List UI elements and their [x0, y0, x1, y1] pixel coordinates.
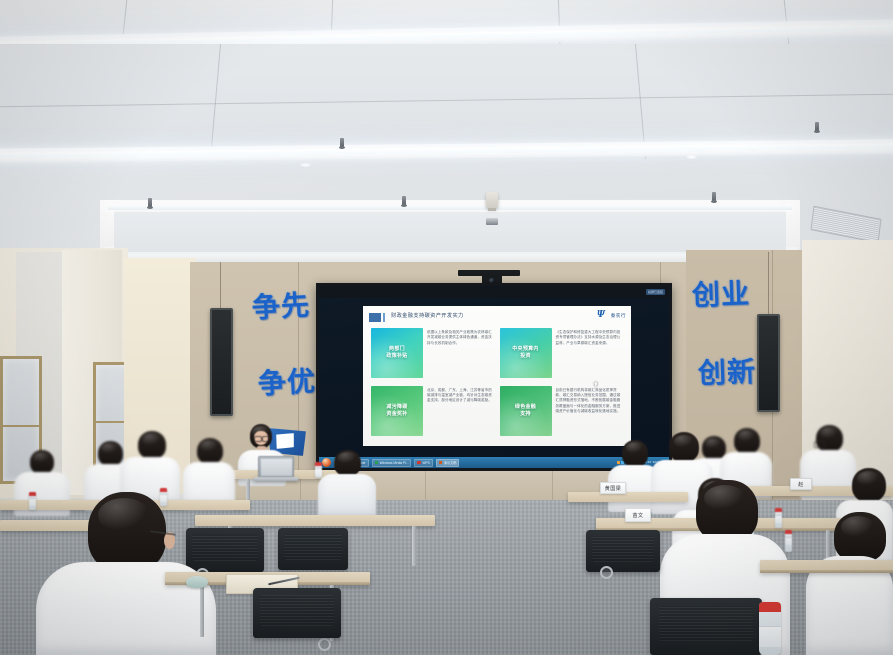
slide-cell-image: 中央预算内 投资 — [500, 328, 552, 378]
slide-cell-body: 依据以上条款及相关产业政策为农林碳汇开发减碳业务提供主体绿色通道，资金扶持与长效… — [427, 328, 495, 381]
ceiling-led-strip-3 — [108, 206, 792, 210]
calligraphy-right-line1: 创业 — [692, 279, 751, 310]
taskbar-button-wps[interactable]: WPS — [414, 459, 432, 467]
sprinkler-head — [340, 138, 344, 147]
powerpoint-slide[interactable]: 财政金融支持碳资产开发实力 Ψ 秦农行 两部门 政策补贴 依据以上条款及相关产业… — [363, 306, 631, 446]
presenter-laptop-lid — [258, 456, 294, 478]
taskbar-button-label: 演示文稿 — [444, 460, 457, 465]
slide-cell: 绿色金融 支持 目前已有银行机构将碳汇商品化质押贷款、碳汇交易纳入授信业务范围，… — [500, 386, 624, 439]
caption-line-2: 投资 — [520, 353, 531, 359]
recessed-downlight — [686, 155, 697, 159]
ceiling-projector — [486, 192, 498, 208]
taskbar-button-presentation[interactable]: 演示文稿 — [436, 459, 460, 467]
foreground-attendee-far-right — [806, 512, 893, 655]
chair — [253, 588, 341, 638]
bottle-label — [29, 498, 36, 506]
calligraphy-right-line2: 创新 — [698, 357, 757, 388]
caption-line-1: 两部门 — [389, 346, 405, 352]
bottle-label — [759, 626, 781, 647]
name-placard: 赵 — [790, 478, 812, 490]
slide-cell-image: 绿色金融 支持 — [500, 386, 552, 436]
slide-cell-body: 北京、成都、广东、上海、江苏等省市的碳减排与温室减产业链，均针对生态碳资金支持，… — [427, 386, 495, 439]
eyeglasses — [814, 441, 825, 448]
chair — [278, 528, 348, 570]
wall-speaker-left — [210, 308, 233, 416]
presenter-laptop-base — [254, 477, 298, 481]
slide-title: 财政金融支持碳资产开发实力 — [391, 312, 464, 319]
sprinkler-head — [712, 192, 716, 201]
slide-title-accent-line — [383, 313, 385, 322]
slide-cell: 减污降碳 资金奖补 北京、成都、广东、上海、江苏等省市的碳减排与温室减产业链，均… — [371, 386, 495, 439]
projector-lens — [486, 218, 498, 225]
taskbar-button-label: WPS — [422, 461, 429, 465]
air-conditioning-vent — [810, 206, 881, 244]
presenter-glasses — [262, 436, 270, 442]
taskbar-button-media-player[interactable]: Windows Media Pl... — [372, 459, 412, 467]
desk-row-mid-left-2 — [195, 515, 435, 526]
meeting-room-photo: 争先 争优 创业 创新 投屏已连接 财政金融支持碳资产开发实力 Ψ 秦农行 — [0, 0, 893, 655]
chair-caster — [318, 638, 331, 651]
bottle-cap — [759, 602, 781, 612]
slide-cell-image: 两部门 政策补贴 — [371, 328, 423, 378]
wall-speaker-right — [757, 314, 780, 412]
laptop-screen — [261, 459, 292, 476]
recessed-downlight — [300, 163, 311, 167]
caption-line-2: 支持 — [520, 411, 531, 417]
caption-line-1: 绿色金融 — [515, 404, 536, 410]
sprinkler-head — [402, 196, 406, 205]
taskbar-button-label: Windows Media Pl... — [380, 461, 409, 465]
presentation-icon — [439, 461, 443, 465]
caption-line-1: 减污降碳 — [386, 404, 407, 410]
chair-caster — [600, 566, 613, 579]
slide-logo: Ψ 秦农行 — [597, 311, 626, 320]
slide-cell: 两部门 政策补贴 依据以上条款及相关产业政策为农林碳汇开发减碳业务提供主体绿色通… — [371, 328, 495, 381]
water-bottle-foreground — [759, 602, 781, 655]
slide-cell-image: 减污降碳 资金奖补 — [371, 386, 423, 436]
chair — [586, 530, 660, 572]
slide-cell-body: 目前已有银行机构将碳汇商品化质押贷款、碳汇交易纳入授信业务范围，通过碳汇质押融资… — [556, 386, 624, 439]
screen-topbar: 投屏已连接 — [319, 286, 669, 298]
caption-line-2: 政策补贴 — [386, 353, 407, 359]
bottle-cap — [29, 492, 36, 496]
caption-line-1: 中央预算内 — [512, 346, 539, 352]
slide-cell-caption: 中央预算内 投资 — [512, 346, 539, 360]
screen-connection-pill: 投屏已连接 — [646, 289, 665, 295]
computer-mouse — [186, 576, 208, 588]
sprinkler-head — [148, 198, 152, 207]
slide-cell-body: 《生态保护和修复重大工程中央预算内投资专项管理办法》支持水源及生态治理公益林，产… — [556, 328, 624, 381]
water-bottle — [29, 492, 36, 510]
name-placard: 黄国梁 — [600, 482, 626, 494]
slide-content-grid: 两部门 政策补贴 依据以上条款及相关产业政策为农林碳汇开发减碳业务提供主体绿色通… — [371, 328, 623, 438]
slide-title-accent-block — [369, 313, 381, 322]
bank-logo-mark: Ψ — [597, 311, 609, 320]
bank-logo-text: 秦农行 — [611, 313, 626, 319]
chair — [650, 598, 762, 655]
slide-cell-caption: 绿色金融 支持 — [515, 404, 536, 418]
presenter-glasses — [254, 436, 262, 442]
slide-cell: 中央预算内 投资 《生态保护和修复重大工程中央预算内投资专项管理办法》支持水源及… — [500, 328, 624, 381]
attendee — [318, 450, 376, 520]
slide-cell-caption: 两部门 政策补贴 — [386, 346, 407, 360]
name-placard: 苗文 — [625, 508, 651, 522]
sprinkler-head — [815, 122, 819, 131]
calligraphy-left-line1: 争先 — [251, 291, 310, 323]
calligraphy-left-line2: 争优 — [257, 367, 316, 399]
slide-cell-caption: 减污降碳 资金奖补 — [386, 404, 407, 418]
wps-icon — [417, 461, 421, 465]
caption-line-2: 资金奖补 — [386, 411, 407, 417]
